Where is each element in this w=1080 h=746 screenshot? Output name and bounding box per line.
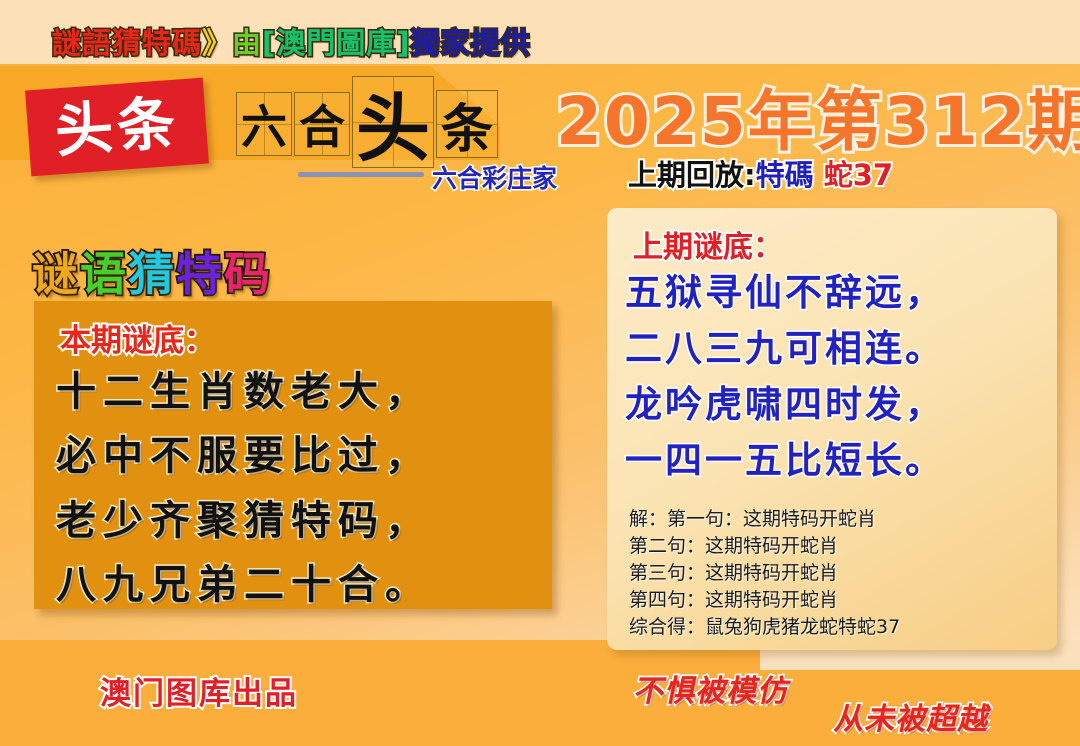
grid-logo-char-4: 条: [441, 87, 493, 162]
grid-logo-char-1: 六: [241, 91, 287, 157]
tagline-part-exclusive: 獨家提供: [411, 26, 531, 60]
replay-special-label: 特碼: [756, 158, 814, 192]
riddle-title-char-3: 猜: [128, 247, 176, 301]
tagline-part-bracket-close: 》: [202, 26, 232, 60]
grid-logo-char-2: 合: [299, 91, 345, 157]
previous-verse-2: 二八三九可相连。: [625, 318, 1043, 372]
grid-logo-cell-1: 六: [236, 92, 292, 156]
riddle-title-char-1: 谜: [32, 247, 80, 301]
current-verse-3: 老少齐聚猜特码，: [56, 488, 534, 546]
current-answer-box: 本期谜底： 十二生肖数老大， 必中不服要比过， 老少齐聚猜特码， 八九兄弟二十合…: [34, 301, 552, 609]
grid-logo-cell-4: 条: [436, 90, 498, 158]
footer-credit: 澳门图库出品: [100, 668, 298, 713]
riddle-title-char-5: 码: [224, 247, 272, 301]
grid-logo-cell-3: 头: [352, 76, 434, 168]
explanation-line-2: 第二句：这期特码开蛇肖: [629, 531, 1049, 558]
toutiao-badge: 头条: [25, 78, 209, 177]
explanation-line-1: 解：第一句：这期特码开蛇肖: [629, 504, 1049, 531]
current-verse-4: 八九兄弟二十合。: [56, 552, 534, 610]
riddle-title-char-4: 特: [176, 247, 224, 301]
riddle-title-char-2: 语: [80, 247, 128, 301]
previous-verse-4: 一四一五比短长。: [625, 430, 1043, 484]
tagline-part-source: [澳門圖庫]: [262, 26, 411, 60]
previous-answer-label: 上期谜底：: [633, 222, 783, 266]
current-verse-2: 必中不服要比过，: [56, 423, 534, 481]
previous-verse-3: 龙吟虎啸四时发，: [625, 374, 1043, 428]
replay-line: 上期回放:特碼 蛇37: [628, 152, 893, 194]
replay-prefix: 上期回放:: [628, 158, 756, 192]
explanation-line-4: 第四句：这期特码开蛇肖: [629, 585, 1049, 612]
slogan-primary: 不惧被模仿: [631, 666, 795, 710]
grid-logo-char-3: 头: [356, 69, 430, 176]
sub-label-text: 六合彩庄家: [432, 164, 557, 193]
tagline: 謎語猜特碼》由[澳門圖庫]獨家提供: [52, 20, 531, 62]
previous-verse-1: 五狱寻仙不辞远，: [625, 262, 1043, 316]
poster-canvas: 謎語猜特碼》由[澳門圖庫]獨家提供 头条 六 合 头 条 六合彩庄家 2025年…: [0, 0, 1080, 746]
slogan-secondary: 从未被超越: [831, 694, 995, 738]
grid-logo-cell-2: 合: [294, 92, 350, 156]
current-verse-1: 十二生肖数老大，: [56, 359, 534, 417]
tagline-part-by: 由: [232, 26, 262, 60]
toutiao-badge-label: 头条: [53, 94, 181, 161]
current-answer-label: 本期谜底：: [60, 315, 215, 360]
sub-label: 六合彩庄家: [432, 159, 557, 195]
riddle-title: 谜语猜特码: [32, 238, 272, 304]
explanation-line-5: 综合得：鼠兔狗虎猪龙蛇特蛇37: [629, 612, 1049, 639]
previous-answer-box: 上期谜底： 五狱寻仙不辞远， 二八三九可相连。 龙吟虎啸四时发， 一四一五比短长…: [607, 208, 1057, 650]
issue-title: 2025年第312期: [556, 68, 1080, 164]
replay-value: 蛇37: [824, 158, 893, 192]
tagline-part-title: 謎語猜特碼: [52, 26, 202, 60]
explanation-line-3: 第三句：这期特码开蛇肖: [629, 558, 1049, 585]
